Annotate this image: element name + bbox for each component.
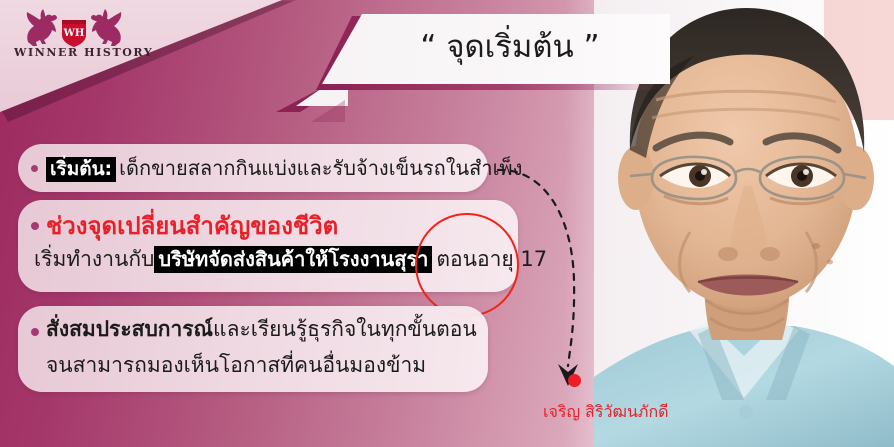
bullet-1-highlight-label: เริ่มต้น:	[46, 157, 116, 182]
winged-horses-shield-icon: WH	[14, 8, 134, 48]
logo-wordmark: WINNER HISTORY	[14, 46, 134, 59]
title-banner: “ จุดเริ่มต้น ”	[322, 14, 670, 84]
bullet-2-text-before: เริ่มทำงานกับ	[34, 247, 154, 271]
slide-root: WH WINNER HISTORY “ จุดเริ่มต้น ” เริ่มต…	[0, 0, 894, 447]
bullet-dot-3	[31, 328, 39, 336]
bullet-3-line-1: สั่งสมประสบการณ์และเรียนรู้ธุรกิจในทุกขั…	[46, 313, 477, 346]
brand-logo: WH WINNER HISTORY	[14, 8, 134, 66]
bullet-2-heading: ช่วงจุดเปลี่ยนสำคัญของชีวิต	[46, 206, 338, 245]
photo-caption: เจริญ สิริวัฒนภักดี	[543, 400, 669, 425]
bullet-1-body: เด็กขายสลากกินแบ่งและรับจ้างเข็นรถในสำเพ…	[119, 156, 522, 180]
bullet-3-line-2: จนสามารถมองเห็นโอกาสที่คนอื่นมองข้าม	[46, 349, 426, 382]
red-location-dot	[568, 374, 581, 387]
bullet-3-line-1-rest: และเรียนรู้ธุรกิจในทุกขั้นตอน	[213, 317, 477, 341]
bullet-2-highlight: บริษัทจัดส่งสินค้าให้โรงงานสุรา	[154, 246, 432, 273]
page-title: “ จุดเริ่มต้น ”	[392, 32, 599, 67]
bullet-3-bold-lead: สั่งสมประสบการณ์	[46, 317, 213, 341]
shield-initials: WH	[63, 28, 85, 39]
bullet-dot-1	[31, 165, 38, 172]
bullet-dot-2	[31, 222, 39, 230]
bullet-1-text: เริ่มต้น:เด็กขายสลากกินแบ่งและรับจ้างเข็…	[46, 152, 522, 184]
dashed-curved-arrow-icon	[490, 150, 620, 395]
